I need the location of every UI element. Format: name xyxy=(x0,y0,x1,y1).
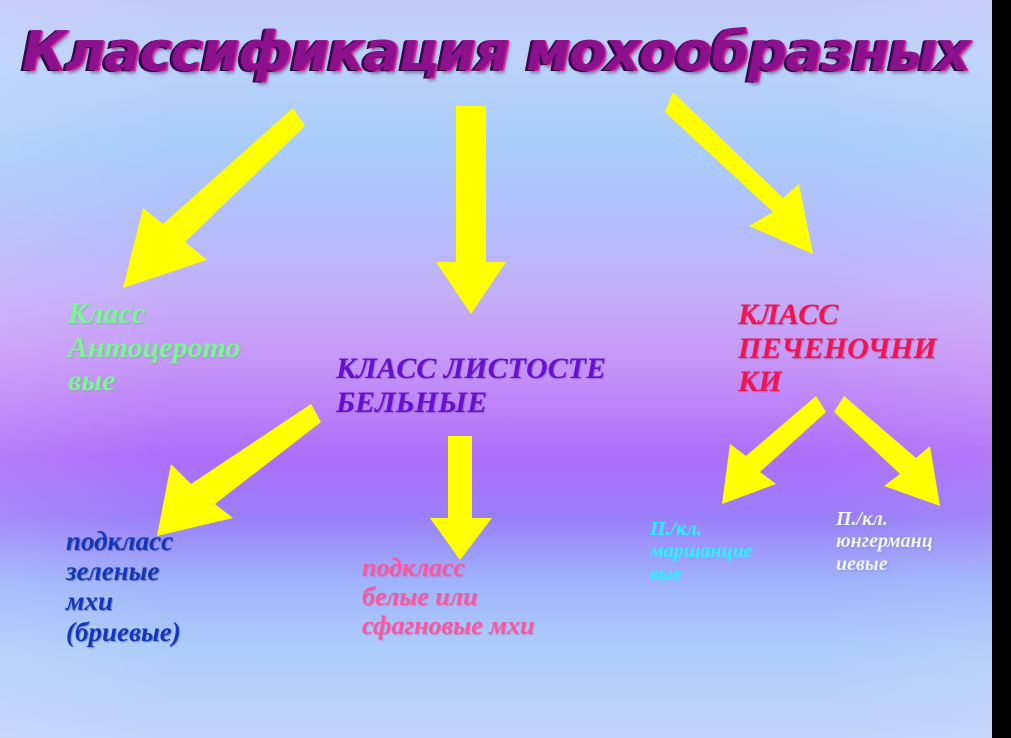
page-title: Классификация мохообразных xyxy=(0,20,992,83)
subclass-label-marchantiidae: П./кл. маршанцие вые xyxy=(650,518,810,585)
right-black-band xyxy=(992,0,1011,738)
subclass-label-sphagnidae: подкласс белые или сфагновые мхи xyxy=(362,553,642,640)
subclass-label-jungermanniidae: П./кл. юнгерманц иевые xyxy=(836,508,996,575)
presentation-slide: Классификация мохообразных xyxy=(0,0,1011,738)
class-label-anthocerotopsida: Класс Антоцерото вые xyxy=(68,297,298,398)
subclass-label-bryidae: подкласс зеленые мхи (бриевые) xyxy=(66,526,316,647)
class-label-bryopsida: КЛАСС ЛИСТОСТЕ БЕЛЬНЫЕ xyxy=(336,352,666,419)
class-label-marchantiopsida: КЛАСС ПЕЧЕНОЧНИ КИ xyxy=(738,298,968,399)
